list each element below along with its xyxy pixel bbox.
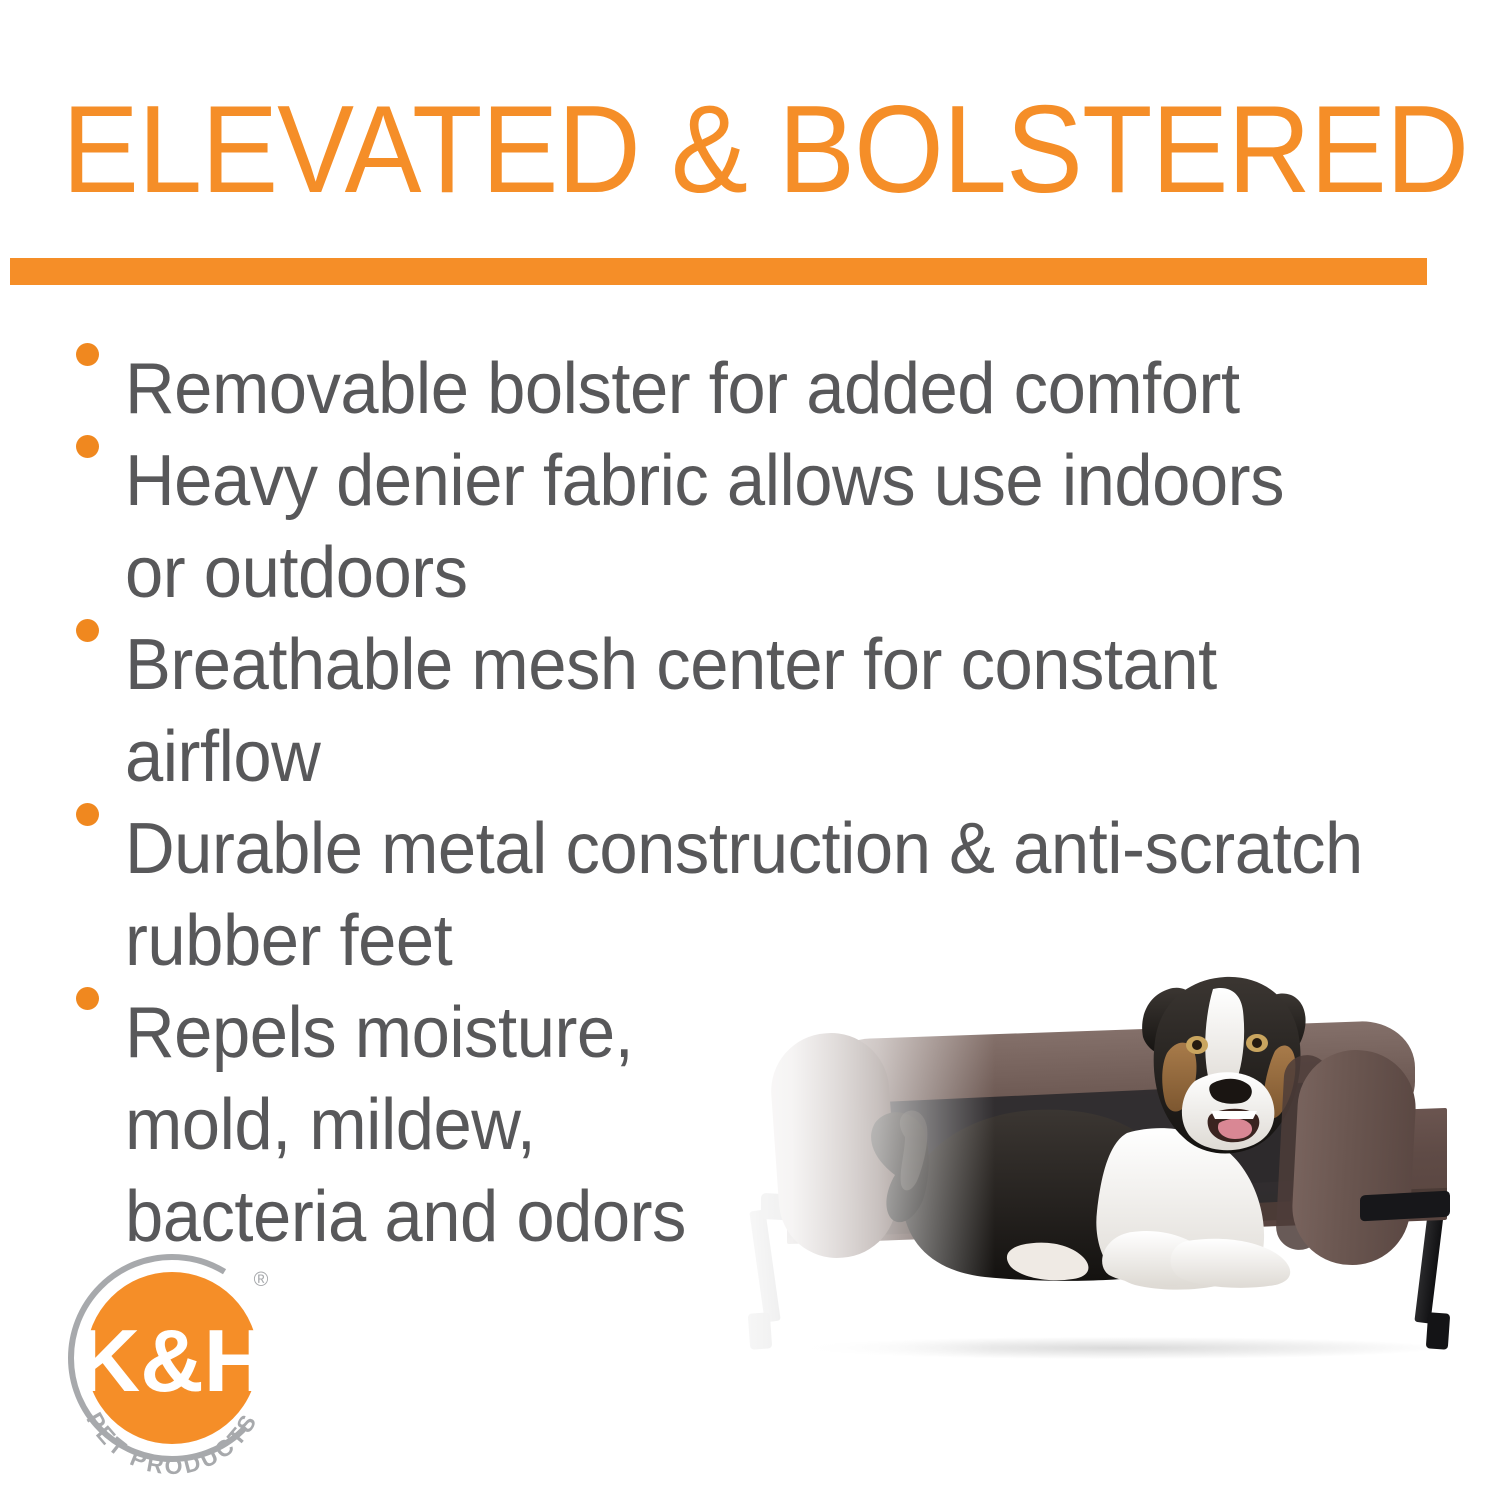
list-item: Breathable mesh center for constant airf… bbox=[68, 619, 1468, 803]
bullet-dot-icon bbox=[76, 803, 99, 826]
feature-text: Heavy denier fabric allows use indoors o… bbox=[125, 435, 1408, 619]
dog-teeth bbox=[1211, 1111, 1257, 1119]
product-image bbox=[735, 945, 1500, 1405]
dog-pupil-left bbox=[1192, 1040, 1202, 1050]
bed-bracket-right bbox=[1360, 1191, 1450, 1222]
bed-bolster-right bbox=[1289, 1047, 1418, 1268]
list-item: Removable bolster for added comfort bbox=[68, 343, 1468, 435]
product-image-inner bbox=[735, 945, 1500, 1405]
dog-front-leg-right bbox=[1171, 1239, 1291, 1288]
brand-logo: K&H ® PET PRODUCTS bbox=[56, 1248, 288, 1480]
orange-divider-bar bbox=[10, 258, 1427, 285]
bullet-dot-icon bbox=[76, 619, 99, 642]
feature-text: Breathable mesh center for constant airf… bbox=[125, 619, 1408, 803]
list-item: Heavy denier fabric allows use indoors o… bbox=[68, 435, 1468, 619]
feature-text: Removable bolster for added comfort bbox=[125, 343, 1408, 435]
bullet-dot-icon bbox=[76, 435, 99, 458]
dog-pupil-right bbox=[1252, 1038, 1262, 1048]
page-title: ELEVATED & BOLSTERED bbox=[62, 88, 1345, 212]
logo-wordmark: K&H bbox=[77, 1311, 268, 1410]
registered-trademark-icon: ® bbox=[254, 1269, 269, 1291]
bullet-dot-icon bbox=[76, 343, 99, 366]
bullet-dot-icon bbox=[76, 987, 99, 1010]
